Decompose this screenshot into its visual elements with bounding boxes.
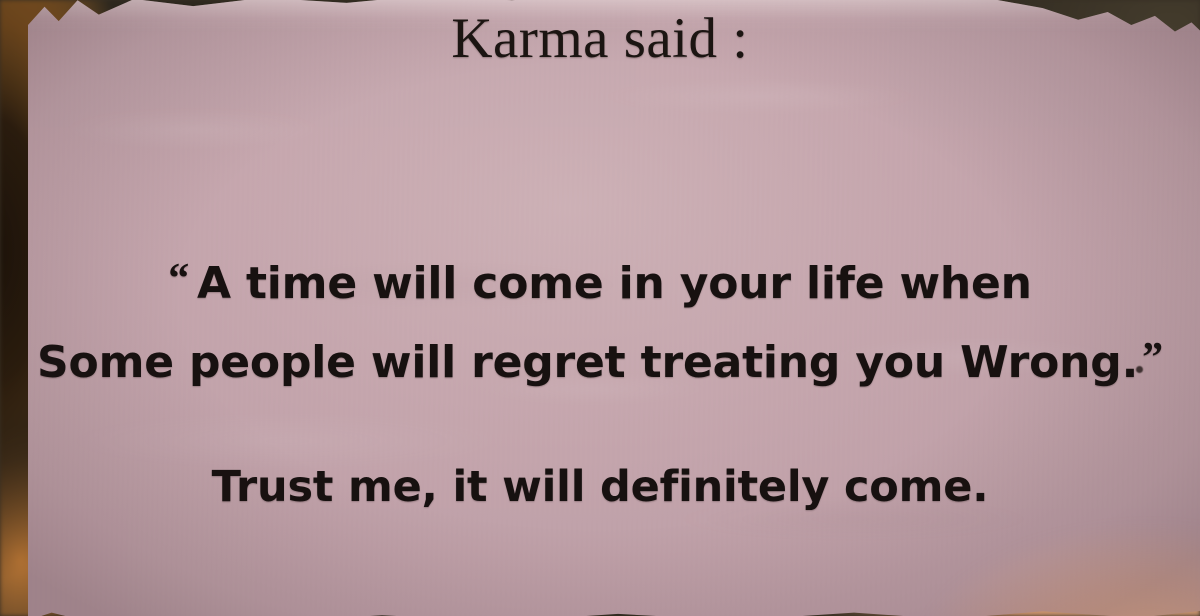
ink-speck [1136,366,1143,373]
quote-card-image: Karma said : “A time will come in your l… [0,0,1200,616]
closing-statement: Trust me, it will definitely come. [0,462,1200,512]
quote-line-1: “A time will come in your life when [0,242,1200,321]
closing-quote-mark: ” [1142,335,1163,381]
opening-quote-mark: “ [168,256,189,302]
quote-line-2: Some people will regret treating you Wro… [0,321,1200,400]
quote-line-2-text: Some people will regret treating you Wro… [37,337,1138,388]
quote-block: “A time will come in your life when Some… [0,242,1200,400]
quote-line-1-text: A time will come in your life when [197,258,1032,309]
page-title: Karma said : [0,6,1200,71]
card-content: Karma said : “A time will come in your l… [0,0,1200,616]
